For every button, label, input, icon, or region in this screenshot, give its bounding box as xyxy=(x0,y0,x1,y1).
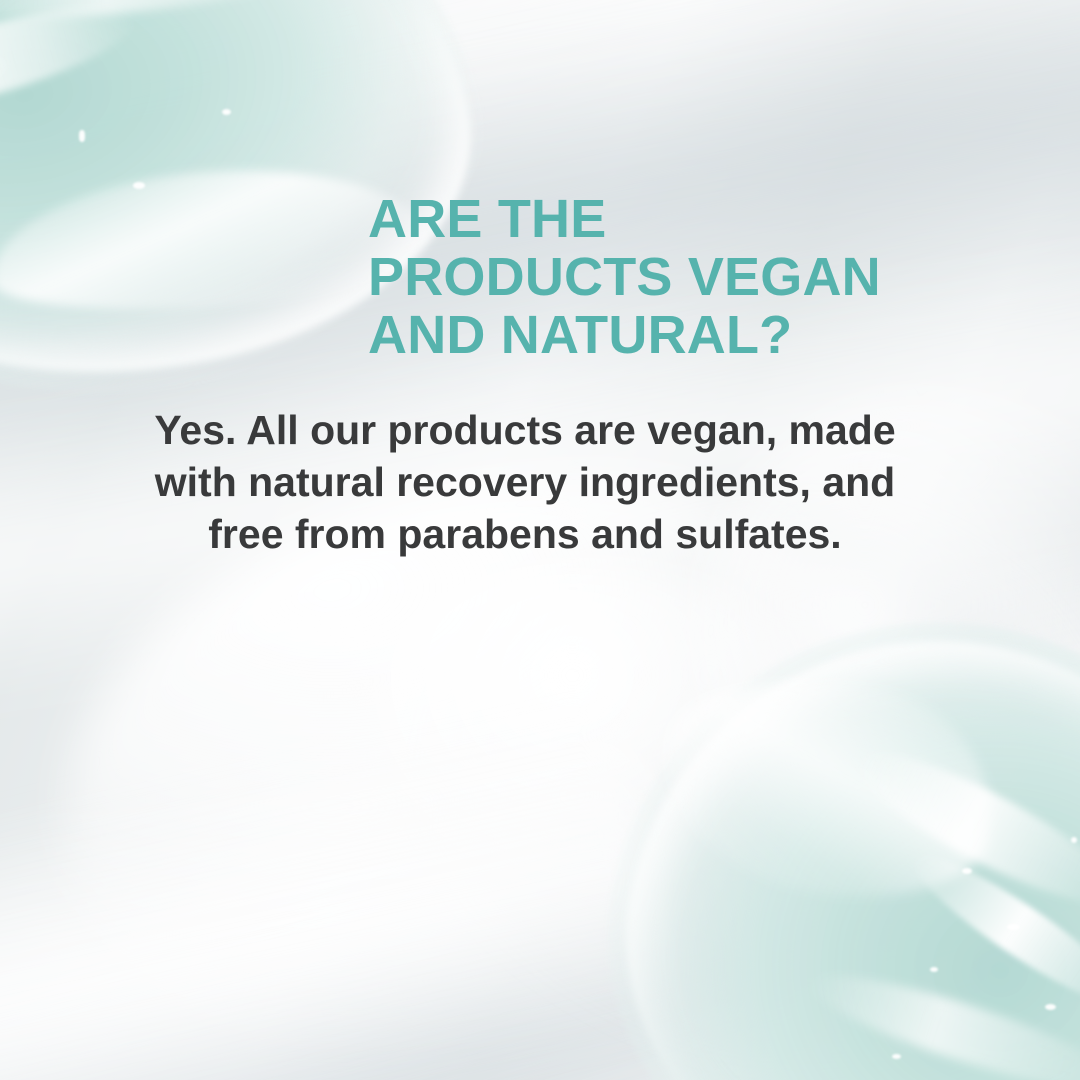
faq-card: ARE THE PRODUCTS VEGAN AND NATURAL? Yes.… xyxy=(0,0,1080,1080)
faq-answer-text: Yes. All our products are vegan, made wi… xyxy=(120,404,930,560)
card-content: ARE THE PRODUCTS VEGAN AND NATURAL? Yes.… xyxy=(0,0,1080,1080)
faq-question-heading: ARE THE PRODUCTS VEGAN AND NATURAL? xyxy=(368,190,988,364)
